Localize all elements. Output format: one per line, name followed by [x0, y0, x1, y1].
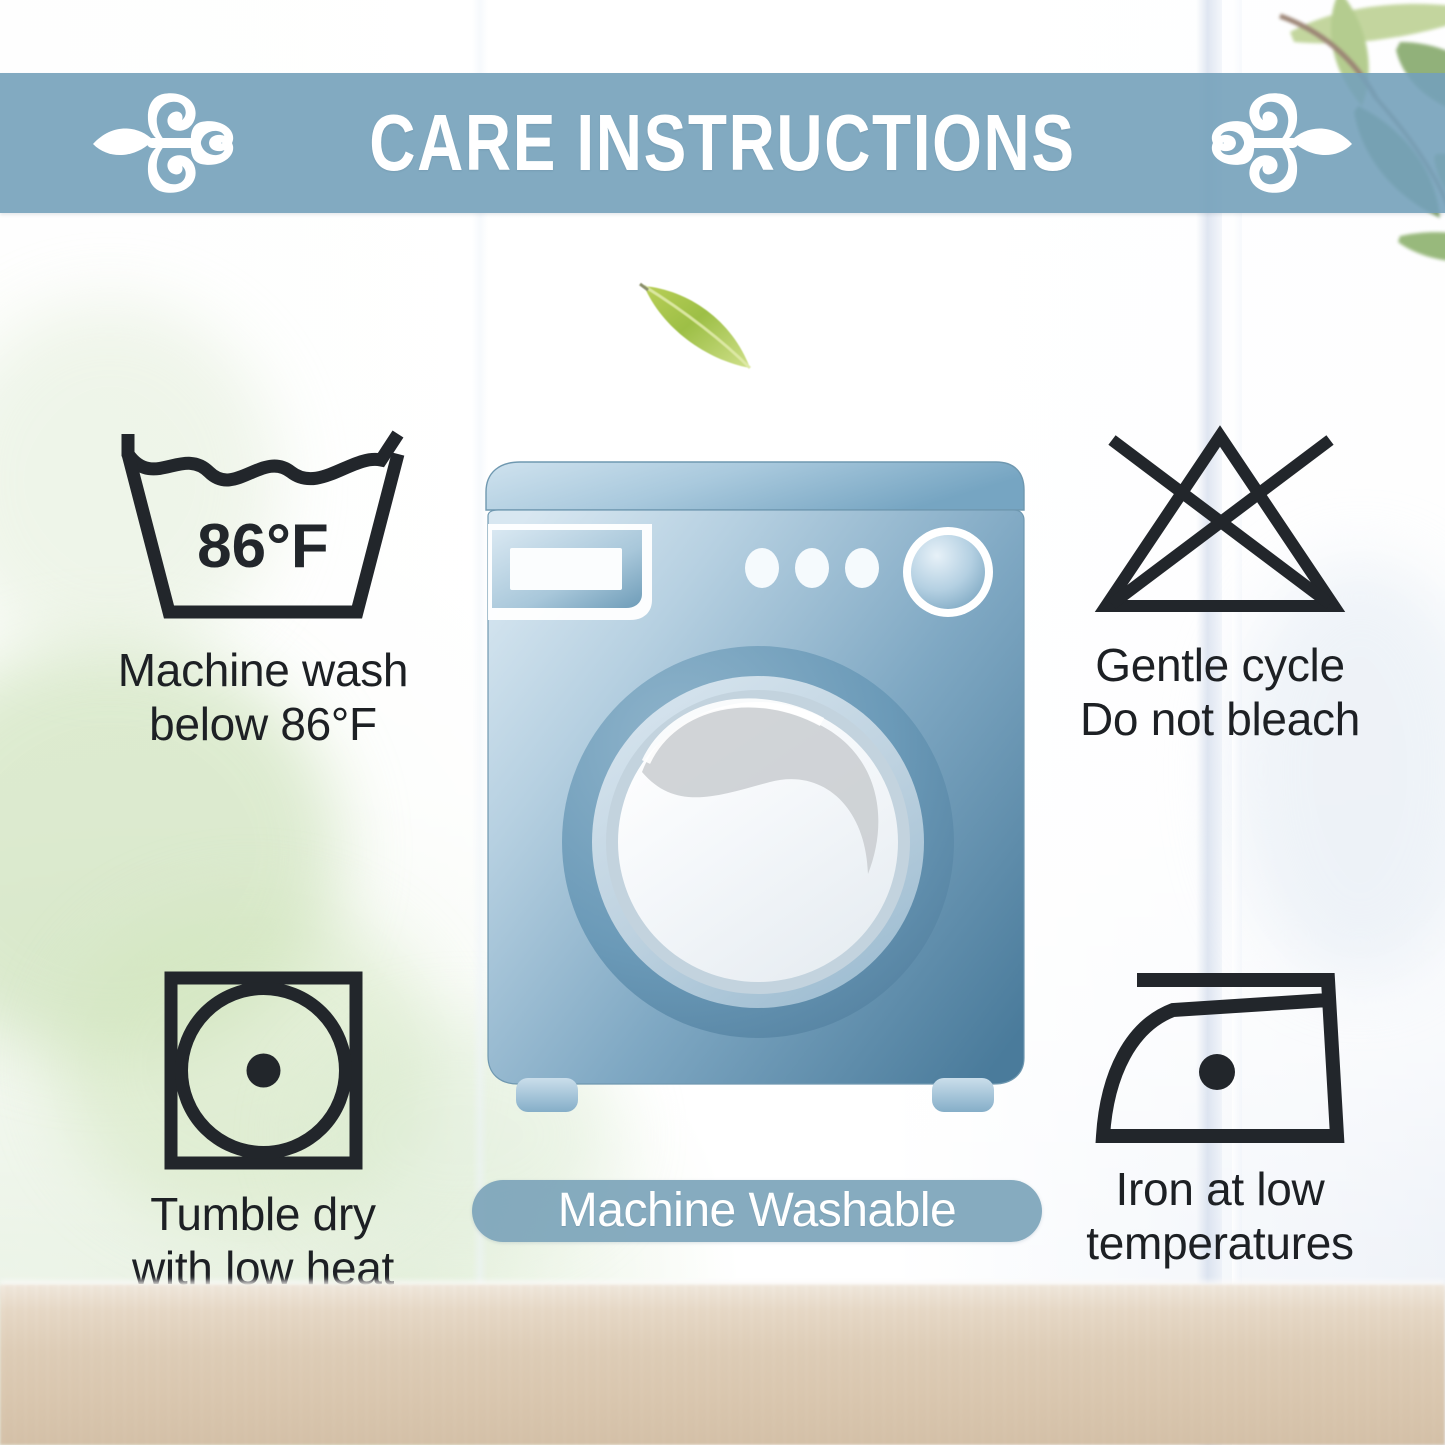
program-knob[interactable] [911, 535, 985, 609]
care-symbol-caption: Iron at low temperatures [1086, 1162, 1353, 1271]
wooden-table-surface [0, 1285, 1445, 1445]
machine-foot [516, 1078, 578, 1112]
detergent-drawer-slot [510, 548, 622, 590]
washing-machine-illustration [470, 450, 1030, 1130]
low-heat-dot [246, 1054, 280, 1088]
wash-temperature-value: 86°F [197, 512, 329, 581]
do-not-bleach-triangle-icon [1088, 424, 1353, 624]
wash-tub-icon: 86°F [113, 424, 413, 629]
low-temperature-dot [1199, 1054, 1235, 1090]
fleur-de-lis-ornament-icon [91, 88, 241, 198]
page-title: CARE INSTRUCTIONS [369, 103, 1075, 183]
care-symbol-caption: Machine wash below 86°F [118, 643, 408, 752]
machine-foot [932, 1078, 994, 1112]
control-button[interactable] [845, 548, 879, 588]
care-instructions-infographic: CARE INSTRUCTIONS [0, 0, 1445, 1445]
care-symbol-tumble-dry: Tumble dry with low heat [38, 968, 488, 1296]
header-banner: CARE INSTRUCTIONS [0, 73, 1445, 213]
care-symbol-caption: Tumble dry with low heat [132, 1187, 394, 1296]
iron-low-temperature-icon [1085, 968, 1355, 1148]
care-symbol-machine-wash: 86°F Machine wash below 86°F [38, 424, 488, 752]
badge-label: Machine Washable [558, 1187, 956, 1235]
care-symbol-do-not-bleach: Gentle cycle Do not bleach [1000, 424, 1440, 747]
control-button[interactable] [745, 548, 779, 588]
green-leaf-icon [636, 272, 776, 382]
control-button[interactable] [795, 548, 829, 588]
machine-washable-badge: Machine Washable [472, 1180, 1042, 1242]
fleur-de-lis-ornament-icon [1204, 88, 1354, 198]
machine-top-lid [486, 462, 1024, 510]
care-symbol-iron-low: Iron at low temperatures [1000, 968, 1440, 1271]
tumble-dry-low-heat-icon [161, 968, 366, 1173]
care-symbol-caption: Gentle cycle Do not bleach [1080, 638, 1360, 747]
